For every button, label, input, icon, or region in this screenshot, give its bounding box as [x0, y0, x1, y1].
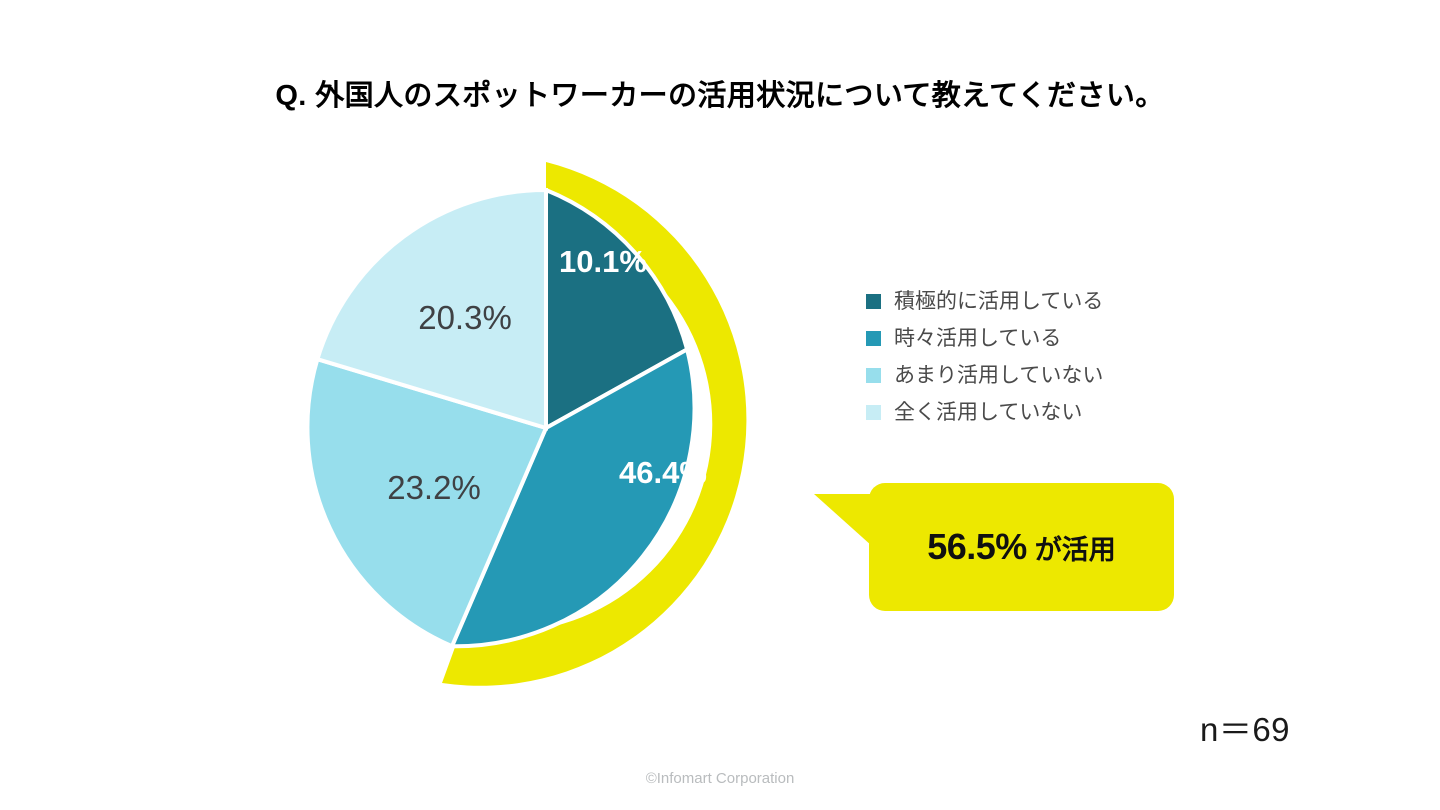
footer-copyright: ©Infomart Corporation	[0, 770, 1440, 787]
pie-chart-svg	[248, 140, 868, 720]
legend-item-occasional-use[interactable]: 時々活用している	[866, 320, 1196, 357]
legend-item-positive-use[interactable]: 積極的に活用している	[866, 283, 1196, 320]
callout-tail-icon	[814, 494, 872, 546]
callout-text: 56.5% が活用	[869, 483, 1174, 611]
legend-item-rarely-use[interactable]: あまり活用していない	[866, 357, 1196, 394]
chart-legend: 積極的に活用している 時々活用している あまり活用していない 全く活用していない	[866, 283, 1196, 431]
page-title: Q. 外国人のスポットワーカーの活用状況について教えてください。	[0, 72, 1440, 114]
sample-size-label: n＝69	[1130, 703, 1360, 751]
legend-item-no-use[interactable]: 全く活用していない	[866, 394, 1196, 431]
legend-swatch-icon	[866, 331, 881, 346]
legend-item-label: 全く活用していない	[894, 402, 1082, 423]
callout-suffix: が活用	[1035, 528, 1116, 567]
legend-item-label: あまり活用していない	[894, 365, 1103, 386]
legend-swatch-icon	[866, 294, 881, 309]
highlight-callout: 56.5% が活用	[869, 483, 1174, 611]
legend-swatch-icon	[866, 405, 881, 420]
pie-chart-figure: 10.1% 46.4% 23.2% 20.3%	[248, 140, 868, 720]
callout-value: 56.5%	[927, 526, 1027, 568]
pie-slices-group	[307, 190, 694, 646]
legend-item-label: 積極的に活用している	[894, 291, 1103, 312]
legend-swatch-icon	[866, 368, 881, 383]
legend-item-label: 時々活用している	[894, 328, 1061, 349]
